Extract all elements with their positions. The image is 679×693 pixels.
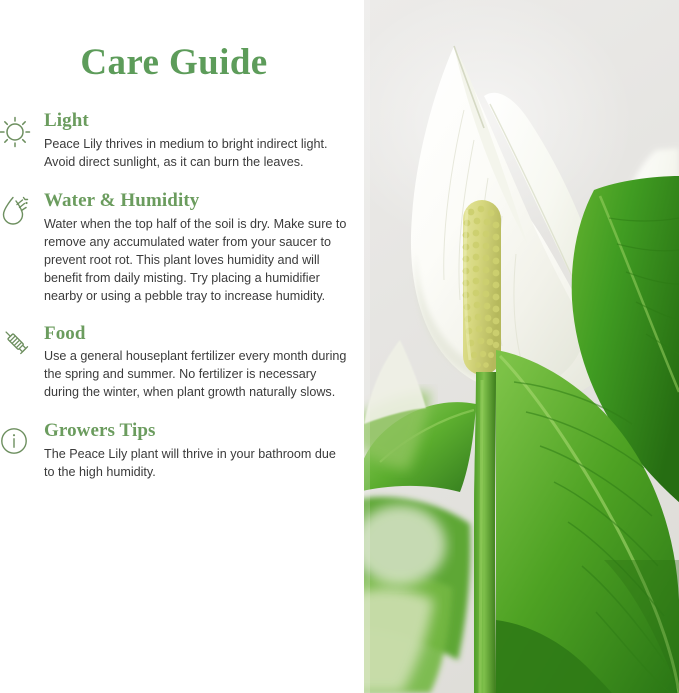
care-section-water-humidity: Water & Humidity Water when the top half… xyxy=(0,189,364,305)
syringe-icon xyxy=(0,324,38,364)
peace-lily-photo xyxy=(364,0,679,693)
care-section-growers-tips: Growers Tips The Peace Lily plant will t… xyxy=(0,419,364,481)
care-guide-panel: Care Guide Lig xyxy=(0,0,364,693)
care-section-light: Light Peace Lily thrives in medium to br… xyxy=(0,109,364,171)
care-section-heading: Water & Humidity xyxy=(44,189,348,213)
care-sections-list: Light Peace Lily thrives in medium to br… xyxy=(0,109,364,481)
care-section-body: Use a general houseplant fertilizer ever… xyxy=(44,347,348,401)
page-title: Care Guide xyxy=(0,0,364,81)
care-section-heading: Light xyxy=(44,109,348,133)
info-circle-icon xyxy=(0,421,38,461)
care-section-heading: Growers Tips xyxy=(44,419,348,443)
care-section-body: Water when the top half of the soil is d… xyxy=(44,215,348,305)
care-section-food: Food Use a general houseplant fertilizer… xyxy=(0,322,364,402)
care-section-body: Peace Lily thrives in medium to bright i… xyxy=(44,135,348,171)
care-guide-page: Care Guide Lig xyxy=(0,0,679,693)
care-section-body: The Peace Lily plant will thrive in your… xyxy=(44,445,348,481)
water-drop-icon xyxy=(0,191,38,231)
care-section-heading: Food xyxy=(44,322,348,346)
sun-icon xyxy=(0,111,38,151)
peace-lily-illustration xyxy=(364,0,679,693)
